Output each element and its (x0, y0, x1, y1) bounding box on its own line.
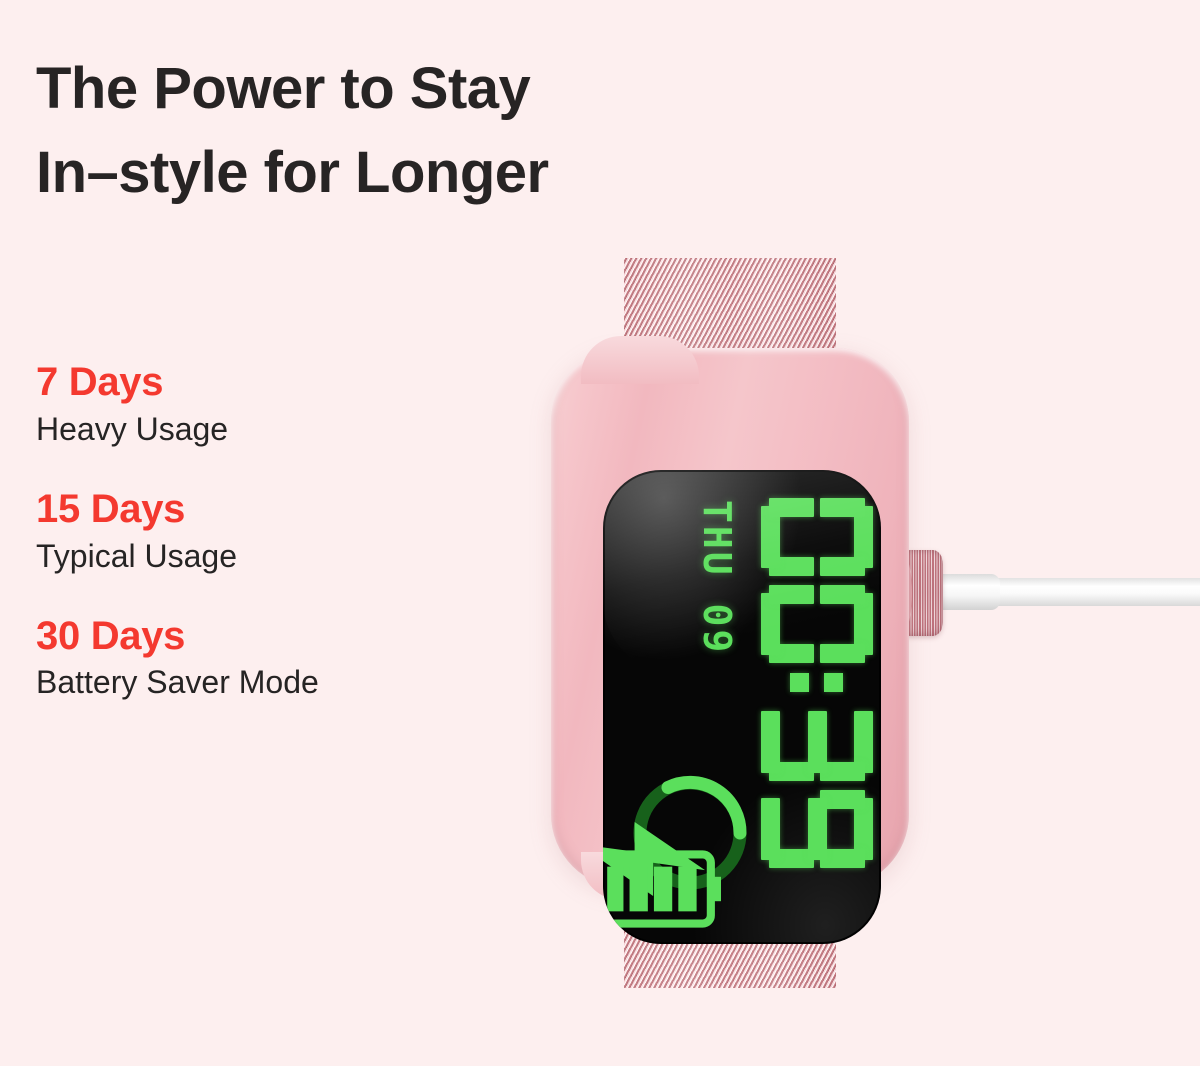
stat-label: Typical Usage (36, 536, 506, 576)
stat-label: Heavy Usage (36, 409, 506, 449)
page-title: The Power to Stay In–style for Longer (36, 58, 736, 204)
smartwatch-image: THU 09 (540, 258, 1010, 988)
charging-cable-plug (938, 574, 1000, 610)
battery-charging-icon (627, 770, 753, 896)
watch-case: THU 09 (551, 348, 909, 888)
headline-line-2: In–style for Longer (36, 142, 736, 203)
digit-minute-ones (761, 790, 873, 868)
battery-level-icon (603, 826, 721, 944)
stat-value: 15 Days (36, 487, 506, 532)
watch-screen[interactable]: THU 09 (603, 470, 881, 944)
date-display: THU 09 (695, 500, 739, 655)
digit-minute-tens (761, 703, 873, 781)
watch-lug-top (581, 336, 699, 384)
clock-separator (761, 672, 873, 694)
list-item: 30 Days Battery Saver Mode (36, 614, 506, 703)
clock-display (761, 498, 873, 868)
digit-hour-tens (761, 498, 873, 576)
watch-face: THU 09 (603, 470, 881, 944)
list-item: 7 Days Heavy Usage (36, 360, 506, 449)
battery-life-stats: 7 Days Heavy Usage 15 Days Typical Usage… (36, 360, 506, 702)
headline-line-1: The Power to Stay (36, 56, 530, 121)
list-item: 15 Days Typical Usage (36, 487, 506, 576)
stat-label: Battery Saver Mode (36, 662, 506, 702)
promo-banner: The Power to Stay In–style for Longer 7 … (0, 0, 1200, 1066)
digit-hour-ones (761, 585, 873, 663)
stat-value: 7 Days (36, 360, 506, 405)
stat-value: 30 Days (36, 614, 506, 659)
